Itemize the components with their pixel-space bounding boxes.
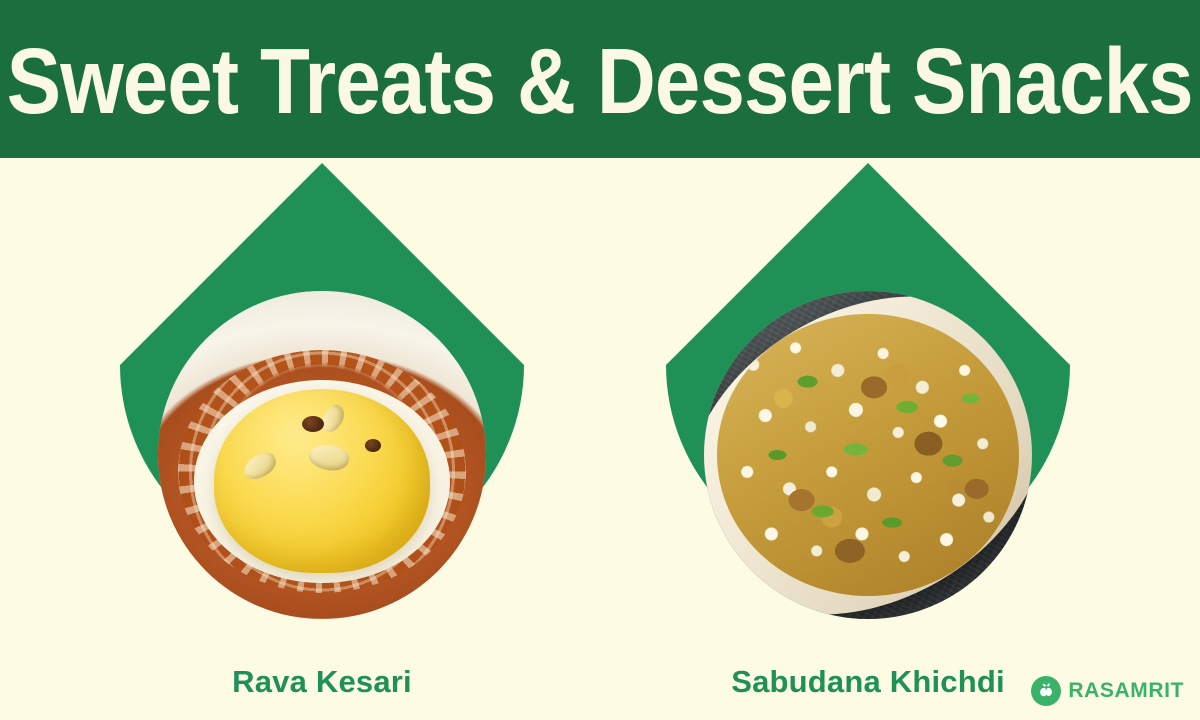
header-banner: Sweet Treats & Dessert Snacks	[0, 0, 1200, 158]
food-label-2: Sabudana Khichdi	[666, 664, 1070, 700]
brand-name: RASAMRIT	[1068, 679, 1184, 703]
food-photo-sabudana-khichdi	[704, 291, 1032, 619]
brand-logo[interactable]: RASAMRIT	[1031, 676, 1184, 706]
food-photo-rava-kesari	[158, 291, 486, 619]
food-pin-card-2[interactable]	[666, 163, 1070, 657]
fruit-leaf-icon	[1031, 676, 1061, 706]
page-title: Sweet Treats & Dessert Snacks	[7, 35, 1193, 128]
food-label-1: Rava Kesari	[120, 664, 524, 700]
poster-canvas: Sweet Treats & Dessert Snacks Rava Kesar…	[0, 0, 1200, 720]
food-pin-card-1[interactable]	[120, 163, 524, 657]
